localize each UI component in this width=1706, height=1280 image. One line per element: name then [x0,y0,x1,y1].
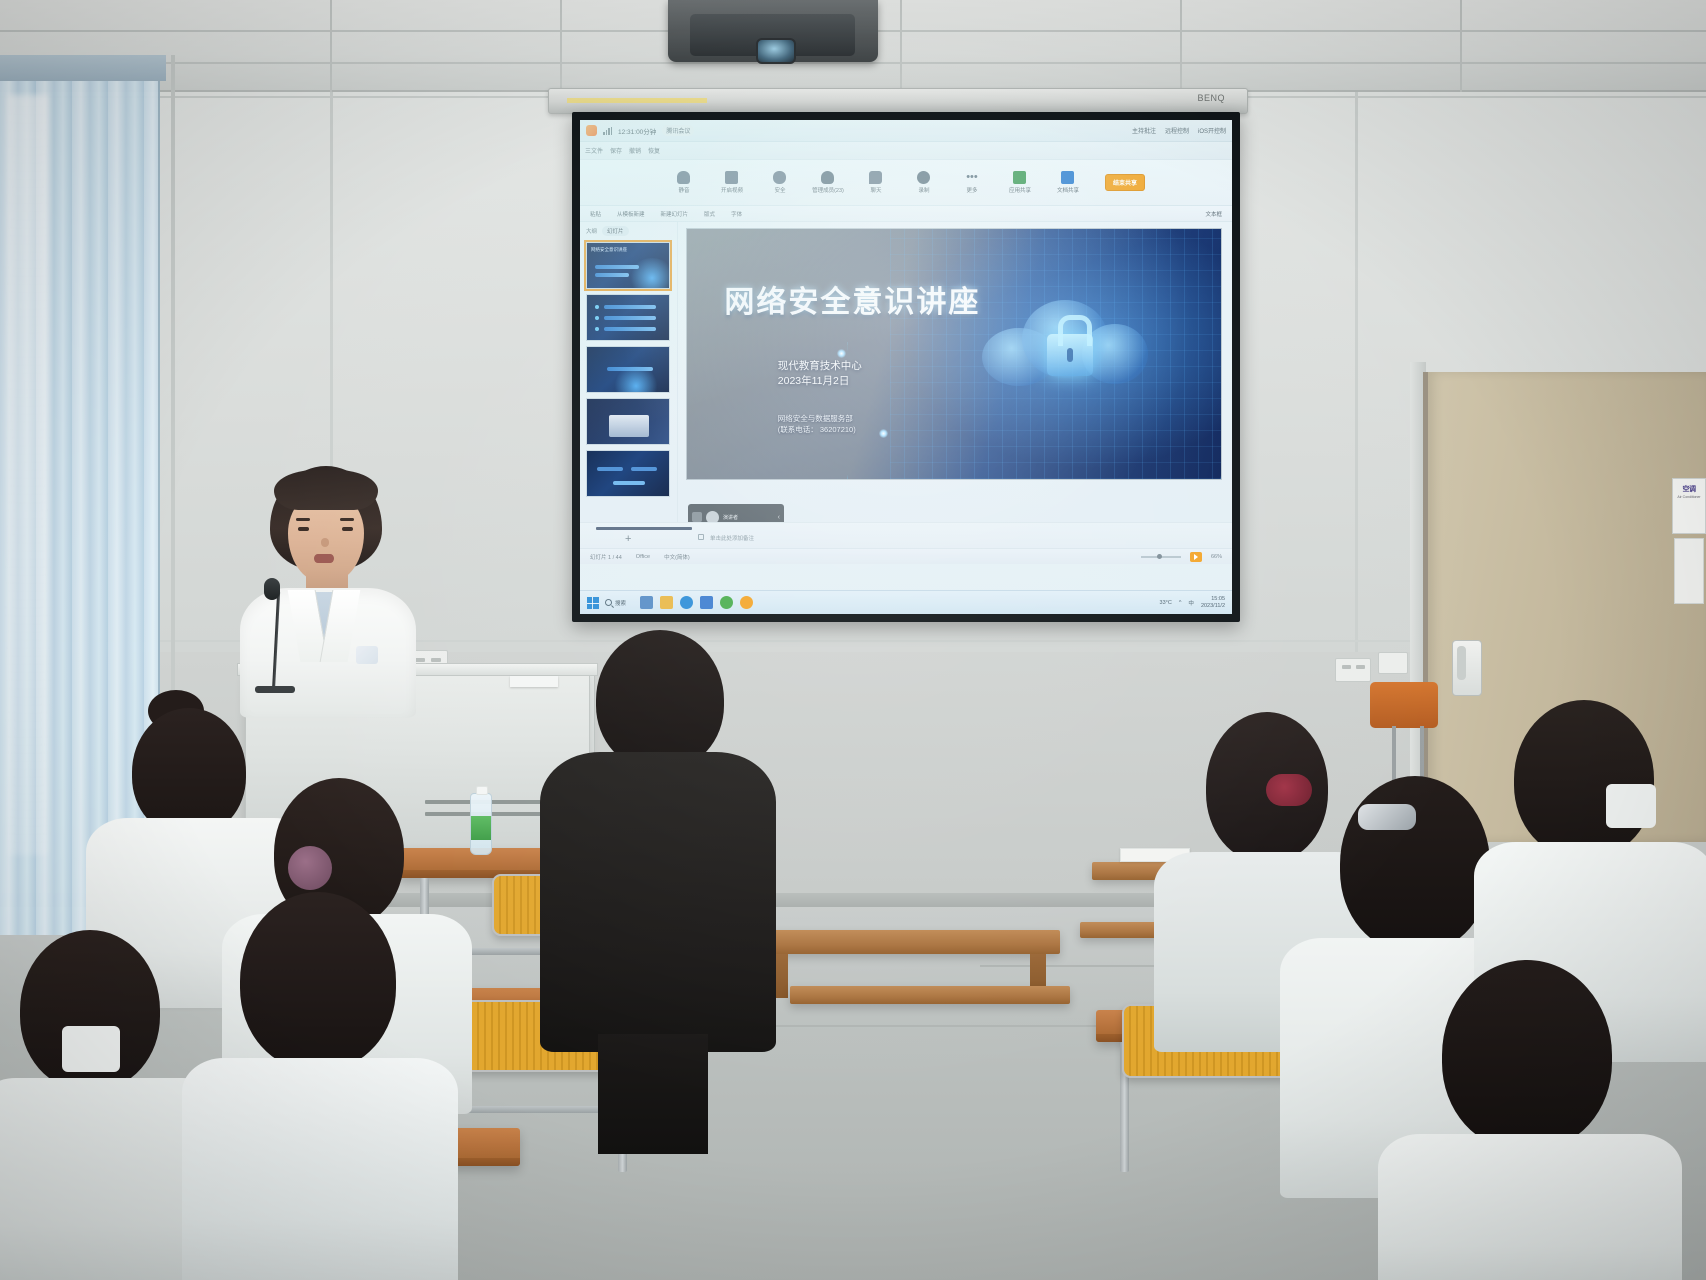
ios-control-item[interactable]: iOS开控制 [1198,126,1226,135]
slide-thumbnail-rail[interactable]: 大纲 幻灯片 网络安全意识讲座 [580,222,678,522]
windows-taskbar: 搜索 33°C ^ 中 15: [580,590,1232,614]
tray-ime[interactable]: 中 [1188,599,1194,607]
face-mask [1606,784,1656,828]
taskbar-search[interactable]: 搜索 [605,599,626,607]
toolbar-security-button[interactable]: 安全 [763,171,797,194]
search-icon [605,599,612,606]
tab-slides[interactable]: 幻灯片 [602,226,629,236]
housing-brand: BENQ [1197,93,1225,103]
slide-subtitle-date: 2023年11月2日 [778,374,862,389]
attendee-bottom-right [1378,960,1678,1280]
bench-center-lower [790,986,1070,1004]
notes-checkbox-icon [698,534,704,540]
end-share-button[interactable]: 结束共享 [1105,174,1145,191]
microphone-head [264,578,280,600]
start-icon[interactable] [587,597,599,609]
face-mask [62,1026,120,1072]
security-icon [773,171,786,184]
toolbar-video-label: 开启视频 [715,186,749,194]
notes-divider [596,527,692,530]
hair-clip [1358,804,1416,830]
ribbon-new-slide[interactable]: 新建幻灯片 [661,210,689,218]
wechat-icon[interactable] [720,596,733,609]
meeting-name[interactable]: 腾讯会议 [662,125,694,136]
slide-footer-contact: (联系电话： 36207210) [778,425,856,436]
attendee-head [1340,776,1490,952]
attendee-head [596,630,724,770]
store-icon[interactable] [700,596,713,609]
slide-thumb-image[interactable] [586,398,670,445]
toolbar-members-label: 管理成员(23) [811,186,845,194]
toolbar-record-label: 录制 [907,186,941,194]
wps-status-bar: 幻灯片 1 / 44 Office 中文(简体) 66% [580,548,1232,564]
presenter-badge [356,646,378,664]
microphone-base [255,686,295,693]
ribbon-font[interactable]: 字体 [731,210,742,218]
attendee-body [540,752,776,1052]
padlock-icon [1047,334,1093,376]
pip-participant-name: 演讲者 [723,514,738,521]
toolbar-chat-button[interactable]: 聊天 [859,171,893,194]
thumb-title-text: 网络安全意识讲座 [591,247,627,253]
ribbon-new-from-template[interactable]: 从模板新建 [617,210,645,218]
chat-icon [869,171,882,184]
slide-title: 网络安全意识讲座 [724,277,980,321]
notes-pane[interactable]: + 单击此处添加备注 [580,522,1232,548]
toolbar-members-button[interactable]: 管理成员(23) [811,171,845,194]
pip-screen-icon [692,512,702,522]
microphone-icon [677,171,690,184]
status-language[interactable]: 中文(简体) [664,553,690,561]
attendee-head [1442,960,1612,1150]
taskbar-apps [640,596,753,609]
toolbar-app-share-label: 应用共享 [1003,186,1037,194]
meeting-logo-icon [586,125,597,136]
attendee-body [182,1058,458,1280]
toolbar-more-label: 更多 [955,186,989,194]
record-icon [917,171,930,184]
toolbar-security-label: 安全 [763,186,797,194]
slide-footer-dept: 网络安全与数据服务部 [778,414,856,425]
app-share-icon [1013,171,1026,184]
status-zoom-percent: 66% [1211,554,1222,560]
attendee-head [240,892,396,1070]
wps-ribbon: 粘贴 从模板新建 新建幻灯片 版式 字体 文本框 [580,206,1232,222]
screen-housing: BENQ [548,88,1248,114]
host-annotate-item[interactable]: 主持批注 [1132,126,1156,135]
tray-chevron-icon[interactable]: ^ [1179,600,1182,606]
wps-redo-button[interactable]: 恢复 [648,146,660,155]
spark-dot-1 [837,349,846,358]
meeting-toolbar: 静音 开启视频 安全 管理成员(23) [580,160,1232,206]
bench-center [760,930,1060,954]
wps-undo-button[interactable]: 撤销 [629,146,641,155]
editor-workspace: 大纲 幻灯片 网络安全意识讲座 [580,222,1232,522]
toolbar-more-button[interactable]: ••• 更多 [955,171,989,194]
notes-placeholder: 单击此处添加备注 [710,534,754,542]
meeting-icon[interactable] [740,596,753,609]
door-notice-sheet [1674,538,1704,604]
zoom-slider[interactable] [1141,556,1181,558]
projection-screen: 12:31:00分钟 腾讯会议 主持批注 远程控制 iOS开控制 三文件 保存 … [572,112,1240,622]
taskbar-tray: 33°C ^ 中 15:05 2023/11/2 [1160,596,1225,609]
ribbon-layout[interactable]: 版式 [704,210,715,218]
slide-thumb-title[interactable]: 网络安全意识讲座 [586,242,670,289]
attendee-front-left [0,930,210,1280]
wall-outlet-right-a [1335,658,1371,682]
ribbon-paste[interactable]: 粘贴 [590,210,601,218]
wps-save-button[interactable]: 保存 [610,146,622,155]
toolbar-doc-share-button[interactable]: 文档共享 [1051,171,1085,194]
folder-icon[interactable] [660,596,673,609]
remote-control-item[interactable]: 远程控制 [1165,126,1189,135]
water-bottle [470,793,492,855]
meeting-duration: 12:31:00分钟 [618,126,656,136]
presenter-mouth [314,554,334,563]
tab-outline[interactable]: 大纲 [586,227,597,235]
toolbar-doc-share-label: 文档共享 [1051,186,1085,194]
meeting-top-bar: 12:31:00分钟 腾讯会议 主持批注 远程控制 iOS开控制 [580,120,1232,142]
projector-lens [756,38,796,64]
slide-thumb-diagram[interactable] [586,450,670,497]
door-sign-aircon: 空调 Air Conditioner [1672,478,1706,534]
tray-weather[interactable]: 33°C [1160,600,1172,606]
toolbar-app-share-button[interactable]: 应用共享 [1003,171,1037,194]
presenter-fringe [274,470,378,510]
search-placeholder: 搜索 [615,599,626,607]
edge-icon[interactable] [680,596,693,609]
wps-file-menu[interactable]: 三文件 [585,146,603,155]
meeting-app-window: 12:31:00分钟 腾讯会议 主持批注 远程控制 iOS开控制 三文件 保存 … [580,120,1232,614]
outline-tabs: 大纲 幻灯片 [586,226,673,236]
toolbar-mute-button[interactable]: 静音 [667,171,701,194]
slide-canvas-area[interactable]: 网络安全意识讲座 现代教育技术中心 2023年11月2日 网络安全与数据服务部 … [678,222,1232,522]
classroom-scene: 空调 Air Conditioner BENQ 12:31:00分钟 腾讯会议 [0,0,1706,1280]
wall-phone[interactable] [1452,640,1482,696]
attendee-center-standing [540,630,776,1150]
add-note-button[interactable]: + [625,533,631,545]
play-slideshow-button[interactable] [1190,552,1202,562]
hair-scrunchie [288,846,332,890]
attendee-head [1514,700,1654,858]
wps-quick-access-row: 三文件 保存 撤销 恢复 [580,142,1232,160]
taskbar-clock[interactable]: 15:05 2023/11/2 [1201,596,1225,609]
taskview-icon[interactable] [640,596,653,609]
slide-thumb-list[interactable] [586,294,670,341]
chair-far-right [1370,682,1438,728]
status-slide-count: 幻灯片 1 / 44 [590,553,622,561]
slide-footer: 网络安全与数据服务部 (联系电话： 36207210) [778,414,856,435]
status-theme[interactable]: Office [636,554,650,560]
slide-subtitle-org: 现代教育技术中心 [778,359,862,374]
presenter [222,466,432,716]
current-slide[interactable]: 网络安全意识讲座 现代教育技术中心 2023年11月2日 网络安全与数据服务部 … [686,228,1222,480]
door-sign-title: 空调 [1675,484,1703,494]
door-sign-subtitle: Air Conditioner [1675,495,1703,499]
clock-date: 2023/11/2 [1201,603,1225,609]
slide-thumb-content[interactable] [586,346,670,393]
toolbar-video-button[interactable]: 开启视频 [715,171,749,194]
toolbar-record-button[interactable]: 录制 [907,171,941,194]
attendee-head [132,708,246,836]
slide-subtitle: 现代教育技术中心 2023年11月2日 [778,359,862,389]
wall-outlet-right-b [1378,652,1408,674]
doc-share-icon [1061,171,1074,184]
more-icon: ••• [965,171,978,184]
attendee-body [1378,1134,1682,1280]
camera-icon [725,171,738,184]
toolbar-mute-label: 静音 [667,186,701,194]
signal-icon [603,127,612,135]
toolbar-chat-label: 聊天 [859,186,893,194]
ribbon-textbox[interactable]: 文本框 [1205,210,1222,218]
presenter-nose [321,538,329,547]
members-icon [821,171,834,184]
attendee-front-center [182,892,452,1280]
pip-collapse-icon[interactable]: ‹ [778,514,780,521]
